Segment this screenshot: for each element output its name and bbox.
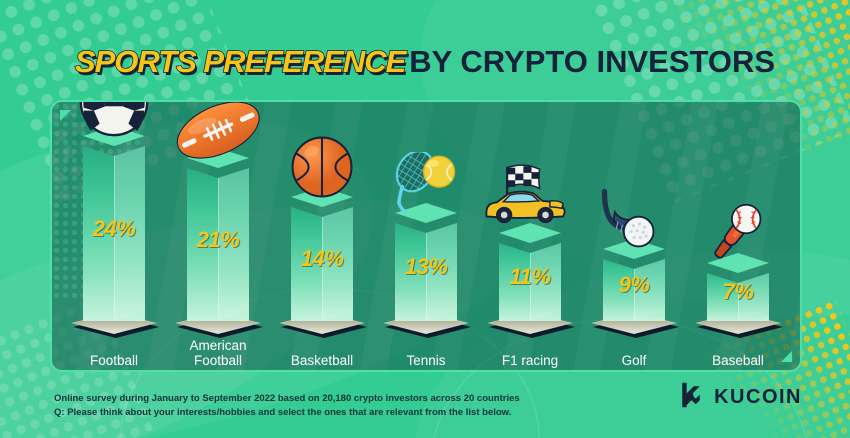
basketball-icon <box>274 125 370 199</box>
brand-lockup: KUCOIN <box>677 381 802 414</box>
soccer-ball-icon <box>66 100 162 138</box>
bar-3d: 24% <box>83 126 145 321</box>
race-car-flag-icon <box>482 161 578 235</box>
footer-note: Online survey during January to Septembe… <box>54 392 520 420</box>
bar-value-label: 24% <box>93 216 136 242</box>
bar-3d: 9% <box>603 239 665 321</box>
bar-column[interactable]: 21% American Football <box>170 100 266 334</box>
bar-body: 11% <box>499 233 561 321</box>
bar-column[interactable]: 14% Basketball <box>274 125 370 334</box>
bar-category-label: Football <box>60 353 168 368</box>
bar-chart: 24% Football <box>52 102 800 370</box>
bar-value-label: 14% <box>301 246 344 272</box>
brand-name: KUCOIN <box>714 386 802 409</box>
bar-category-label: Tennis <box>372 353 480 368</box>
bar-value-label: 13% <box>405 254 448 280</box>
title-highlight: SPORTS PREFERENCE <box>75 44 405 79</box>
golf-club-ball-icon <box>586 177 682 251</box>
bar-body: 13% <box>395 213 457 321</box>
bar-column[interactable]: 9% Golf <box>586 177 682 334</box>
american-football-icon <box>170 100 266 160</box>
bar-value-label: 21% <box>197 227 240 253</box>
bar-3d: 14% <box>291 187 353 321</box>
bar-body: 21% <box>187 158 249 321</box>
bar-category-label: American Football <box>164 338 272 368</box>
bar-column[interactable]: 7% Baseball <box>690 191 786 334</box>
bar-3d: 21% <box>187 148 249 321</box>
footer-line-1: Online survey during January to Septembe… <box>54 392 520 406</box>
kucoin-k-logo-icon <box>677 381 705 414</box>
bar-value-label: 11% <box>510 264 551 290</box>
bar-body: 24% <box>83 136 145 321</box>
bar-value-label: 9% <box>619 272 650 298</box>
infographic-root: SPORTS PREFERENCEBY CRYPTO INVESTORS <box>0 0 850 438</box>
bar-body: 14% <box>291 197 353 321</box>
bar-3d: 11% <box>499 223 561 321</box>
footer-line-2: Q: Please think about your interests/hob… <box>54 406 520 420</box>
bar-column[interactable]: 24% Football <box>66 100 162 334</box>
bar-column[interactable]: 13% Tennis <box>378 141 474 334</box>
title-rest: BY CRYPTO INVESTORS <box>409 44 775 79</box>
baseball-bat-icon <box>690 191 786 265</box>
page-title: SPORTS PREFERENCEBY CRYPTO INVESTORS <box>0 44 850 80</box>
bar-category-label: Golf <box>580 353 688 368</box>
bar-category-label: Basketball <box>268 353 376 368</box>
bar-3d: 13% <box>395 203 457 321</box>
bar-body: 9% <box>603 249 665 321</box>
chart-panel: 24% Football <box>50 100 802 372</box>
tennis-racket-icon <box>378 141 474 215</box>
bar-column[interactable]: 11% F1 racing <box>482 161 578 334</box>
bar-value-label: 7% <box>723 279 754 305</box>
bar-category-label: F1 racing <box>476 353 584 368</box>
bar-category-label: Baseball <box>684 353 792 368</box>
